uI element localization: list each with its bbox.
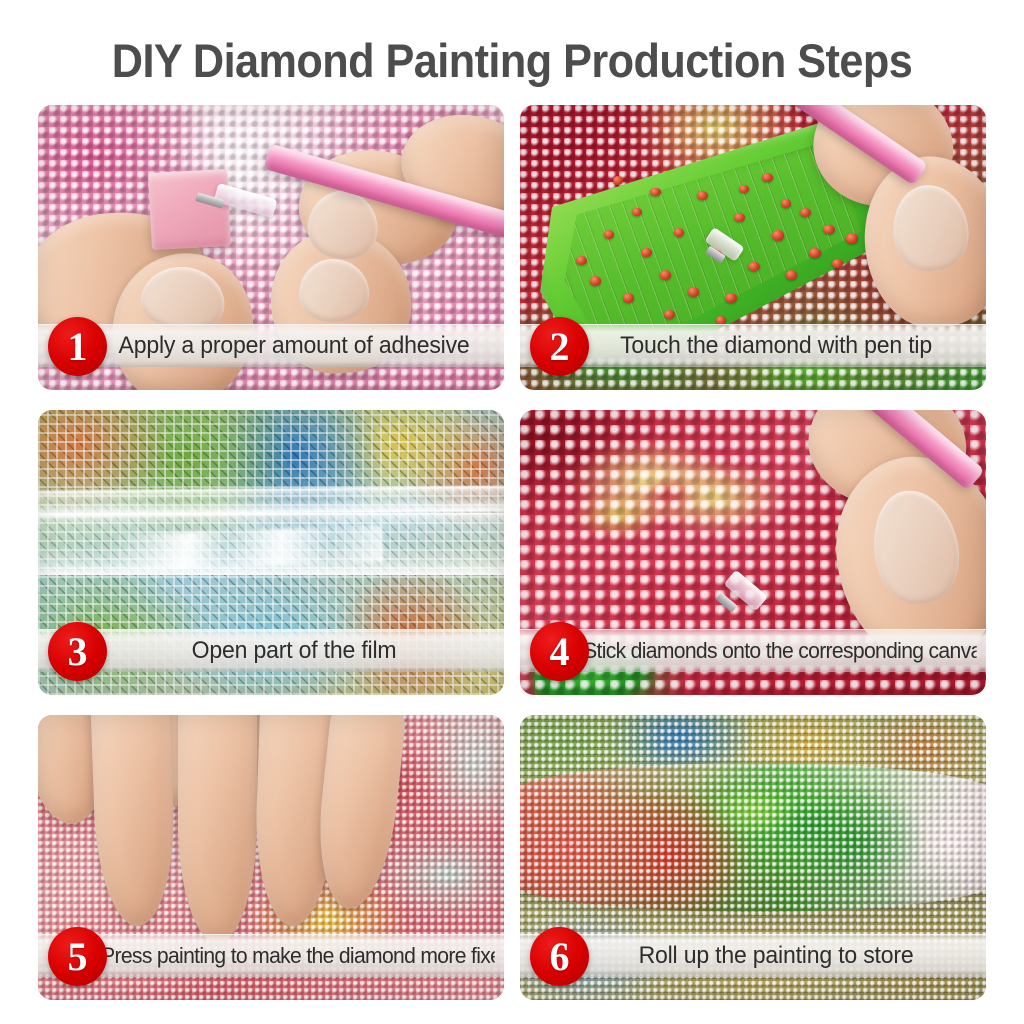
step-6-badge: 6 [530,927,589,986]
step-6-caption: Roll up the painting to store [529,942,976,970]
diamond-drill [623,293,635,303]
step-2-number: 2 [550,327,570,367]
infographic-page: DIY Diamond Painting Production Steps [0,0,1024,1024]
diamond-drill [697,191,708,200]
step-4-caption: Stick diamonds onto the corresponding ca… [529,638,976,664]
step-panel-3: Open part of the film 3 [38,410,504,695]
step-1-number: 1 [68,327,88,367]
step-4-number: 4 [550,632,570,672]
diamond-drill [674,228,685,237]
step-1-caption: Apply a proper amount of adhesive [47,332,494,360]
step-2-badge: 2 [530,317,589,376]
diamond-drill [641,248,652,257]
step-3-caption-bar: Open part of the film [38,629,504,672]
step-6-caption-bar: Roll up the painting to store [520,934,986,977]
step-3-number: 3 [68,632,88,672]
diamond-drill [809,248,821,258]
step-6-number: 6 [550,937,570,977]
diamond-drill [786,270,798,280]
diamond-drill [772,230,784,240]
step-panel-5: Press painting to make the diamond more … [38,715,504,1000]
protective-film-edge [38,484,504,518]
diamond-drill [748,262,759,271]
step-panel-2: Touch the diamond with pen tip 2 [520,105,986,390]
diamond-drill [576,256,587,265]
step-4-badge: 4 [530,622,589,681]
step-2-caption-bar: Touch the diamond with pen tip [520,324,986,367]
step-2-caption: Touch the diamond with pen tip [529,332,976,360]
diamond-drill [800,208,811,217]
step-panel-6: Roll up the painting to store 6 [520,715,986,1000]
step-5-number: 5 [68,937,88,977]
step-4-caption-bar: Stick diamonds onto the corresponding ca… [520,629,986,672]
step-1-caption-bar: Apply a proper amount of adhesive [38,324,504,367]
diamond-drill [823,225,835,235]
diamond-drill [650,188,660,197]
diamond-drill [725,293,737,303]
diamond-drill [846,233,858,243]
diamond-drill [781,199,791,208]
diamond-drill [590,276,601,286]
step-1-badge: 1 [48,317,107,376]
diamond-drill [762,173,772,182]
wax-square [148,169,231,250]
step-5-badge: 5 [48,927,107,986]
step-5-caption: Press painting to make the diamond more … [47,943,494,969]
step-panel-1: Apply a proper amount of adhesive 1 [38,105,504,390]
step-5-caption-bar: Press painting to make the diamond more … [38,934,504,977]
page-title: DIY Diamond Painting Production Steps [41,33,983,88]
step-3-caption: Open part of the film [47,637,494,665]
diamond-drill [660,270,671,280]
step-3-badge: 3 [48,622,107,681]
steps-grid: Apply a proper amount of adhesive 1 [38,105,986,1000]
step-panel-4: Stick diamonds onto the corresponding ca… [520,410,986,695]
